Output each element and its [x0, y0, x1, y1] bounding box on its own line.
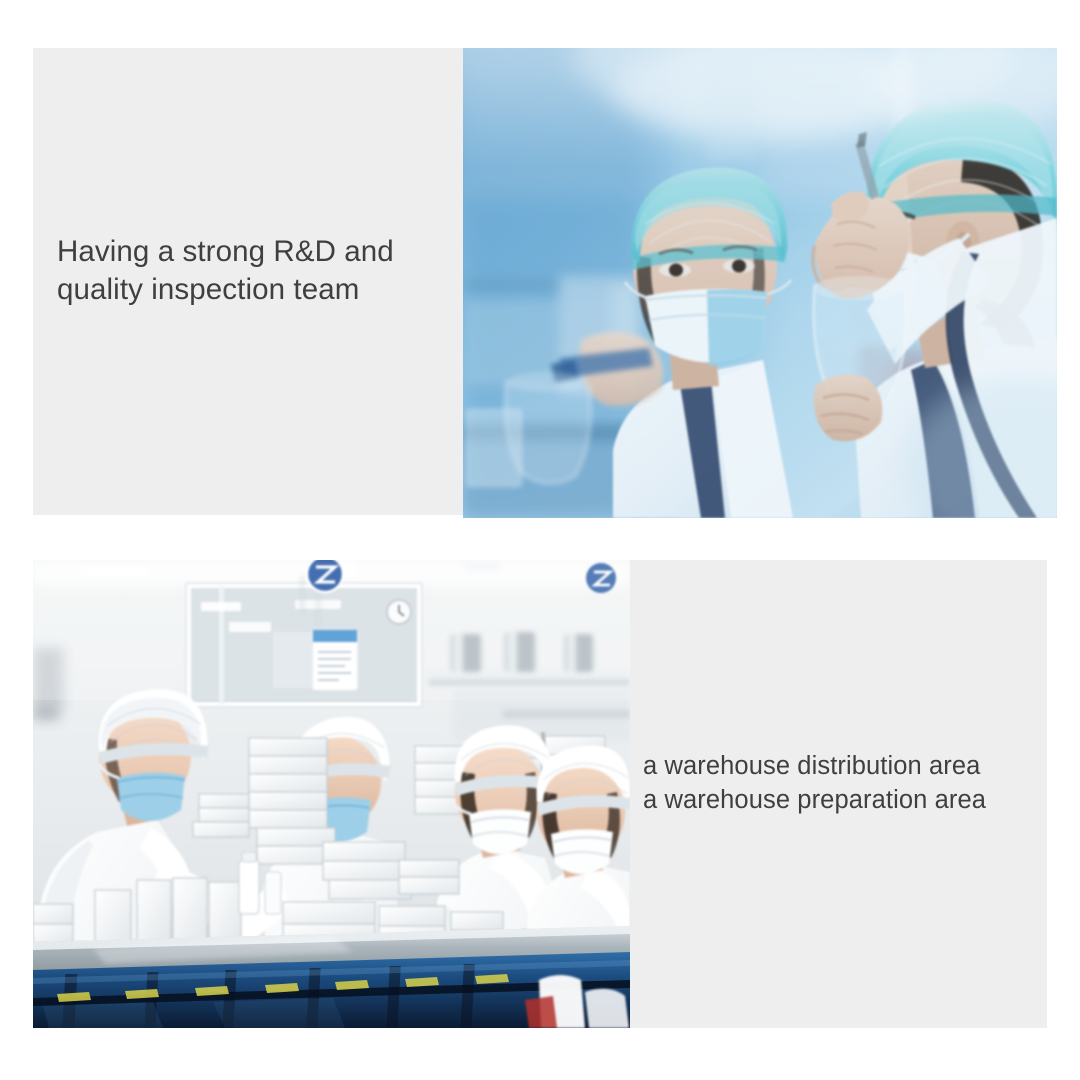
lab-technicians-photo — [463, 48, 1057, 518]
caption-rnd-quality: Having a strong R&D and quality inspecti… — [57, 233, 457, 310]
warehouse-packing-illustration — [33, 560, 630, 1028]
section-warehouse: a warehouse distribution area a warehous… — [33, 560, 1047, 1028]
page-root: Having a strong R&D and quality inspecti… — [0, 0, 1080, 1080]
section-rnd-quality: Having a strong R&D and quality inspecti… — [33, 48, 1057, 518]
lab-technicians-illustration — [463, 48, 1057, 518]
caption-warehouse: a warehouse distribution area a warehous… — [643, 750, 1063, 818]
warehouse-packing-photo — [33, 560, 630, 1028]
